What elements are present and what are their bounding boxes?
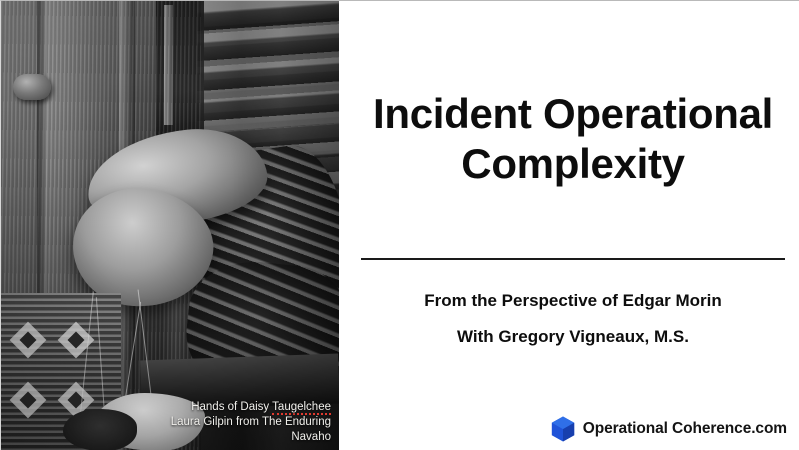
weaving-photograph: Hands of Daisy Taugelchee Laura Gilpin f… [1,1,339,450]
photo-caption: Hands of Daisy Taugelchee Laura Gilpin f… [131,400,331,445]
brand-logo[interactable]: Operational Coherence.com [551,416,787,442]
slide-title-line-2: Complexity [361,139,785,189]
slide-subtitle-line-2: With Gregory Vigneaux, M.S. [361,319,785,355]
blue-cube-logo-icon [551,416,575,442]
title-divider-rule [361,258,785,260]
photo-caption-misspelled-word: Taugelchee [272,401,331,415]
photo-layer-vignette [1,1,339,450]
slide-subtitle-line-1: From the Perspective of Edgar Morin [361,283,785,319]
photo-caption-line-1-prefix: Hands of Daisy [191,401,272,413]
slide-subtitle: From the Perspective of Edgar Morin With… [361,283,785,355]
photo-caption-line-1: Hands of Daisy Taugelchee [131,400,331,415]
brand-logo-text: Operational Coherence.com [583,420,787,438]
photo-caption-line-2: Laura Gilpin from The Enduring [131,415,331,430]
presentation-slide: Hands of Daisy Taugelchee Laura Gilpin f… [0,0,799,450]
slide-title: Incident Operational Complexity [361,89,785,189]
slide-content-area: Incident Operational Complexity From the… [339,1,799,450]
photo-artwork [1,1,339,450]
slide-title-line-1: Incident Operational [361,89,785,139]
photo-caption-line-3: Navaho [131,430,331,445]
